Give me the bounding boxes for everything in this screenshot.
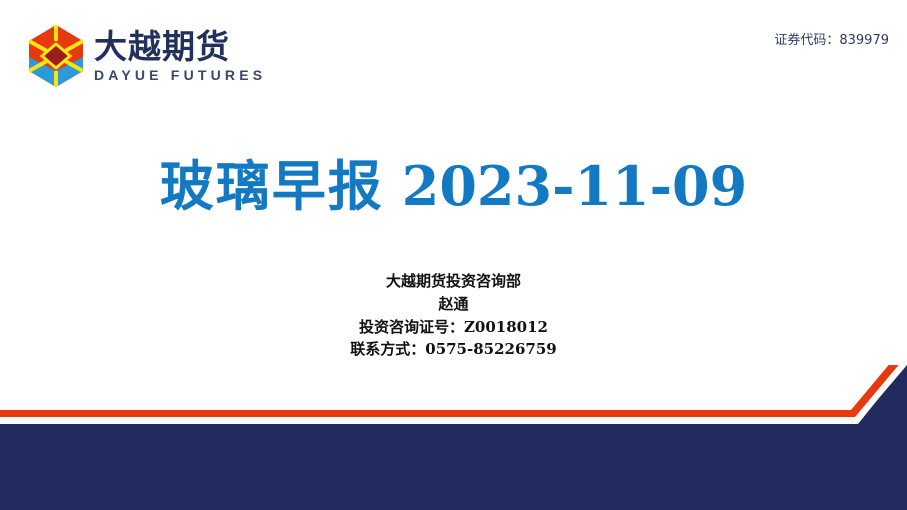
securities-code: 证券代码：839979 [774,29,889,48]
page-title: 玻璃早报2023-11-09 [0,142,907,221]
footer-decorative-band [0,365,907,510]
logo-chinese-name: 大越期货 [94,30,266,65]
byline-analyst: 赵通 [0,293,907,316]
company-logo: 大越期货 DAYUE FUTURES [28,24,266,88]
footer-navy-shape [0,365,907,510]
title-report-date: 2023-11-09 [384,154,747,218]
footer-band-graphic [0,365,907,510]
dayue-hexagon-logo-icon [28,24,84,88]
title-report-name: 玻璃早报 [160,154,384,218]
byline-block: 大越期货投资咨询部 赵通 投资咨询证号：Z0018012 联系方式：0575-8… [0,270,907,361]
logo-english-name: DAYUE FUTURES [94,68,266,82]
byline-contact: 联系方式：0575-85226759 [0,338,907,361]
report-cover-page: 大越期货 DAYUE FUTURES 证券代码：839979 玻璃早报2023-… [0,0,907,510]
footer-orange-stripe [0,365,907,417]
byline-department: 大越期货投资咨询部 [0,270,907,293]
byline-license: 投资咨询证号：Z0018012 [0,316,907,339]
logo-wordmark: 大越期货 DAYUE FUTURES [94,30,266,83]
